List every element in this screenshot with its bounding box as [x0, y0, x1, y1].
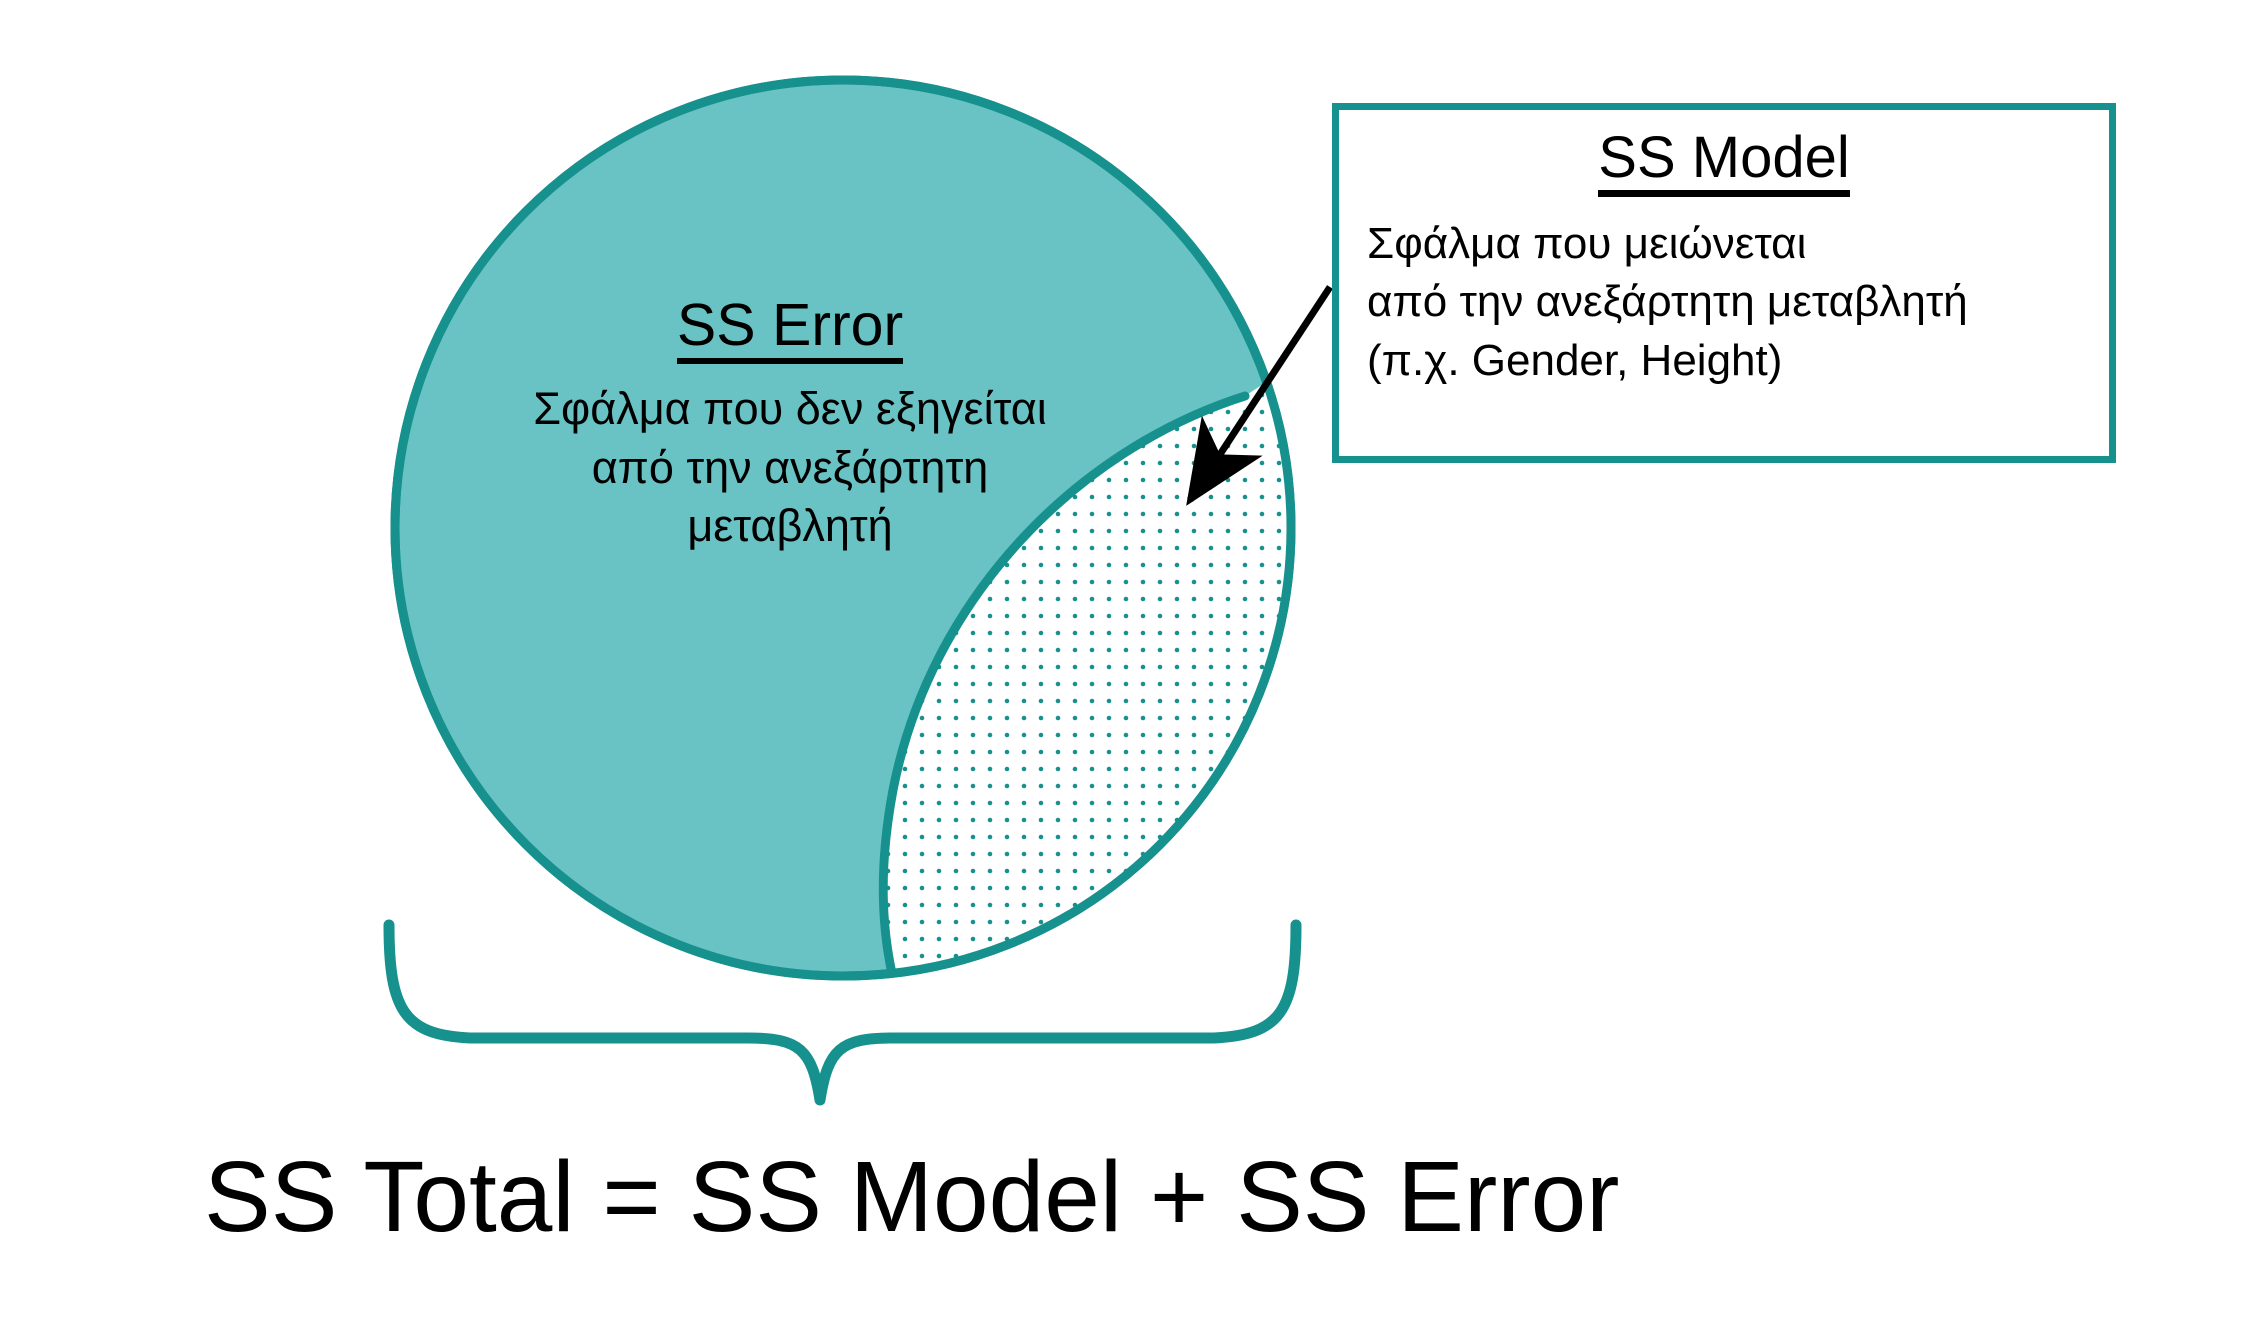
ss-model-title-wrap: SS Model [1339, 128, 2109, 197]
ss-model-callout-box: SS Model Σφάλμα που μειώνεται από την αν… [1332, 103, 2116, 463]
diagram-canvas: SS Error Σφάλμα που δεν εξηγείται από τη… [0, 0, 2246, 1334]
ss-total-equation: SS Total = SS Model + SS Error [204, 1147, 1619, 1247]
ss-model-body: Σφάλμα που μειώνεται από την ανεξάρτητη … [1367, 215, 2109, 391]
ss-error-title: SS Error [677, 295, 903, 364]
ss-model-title: SS Model [1598, 128, 1849, 197]
ss-error-body: Σφάλμα που δεν εξηγείται από την ανεξάρτ… [470, 380, 1110, 556]
ss-error-label: SS Error Σφάλμα που δεν εξηγείται από τη… [470, 295, 1110, 556]
